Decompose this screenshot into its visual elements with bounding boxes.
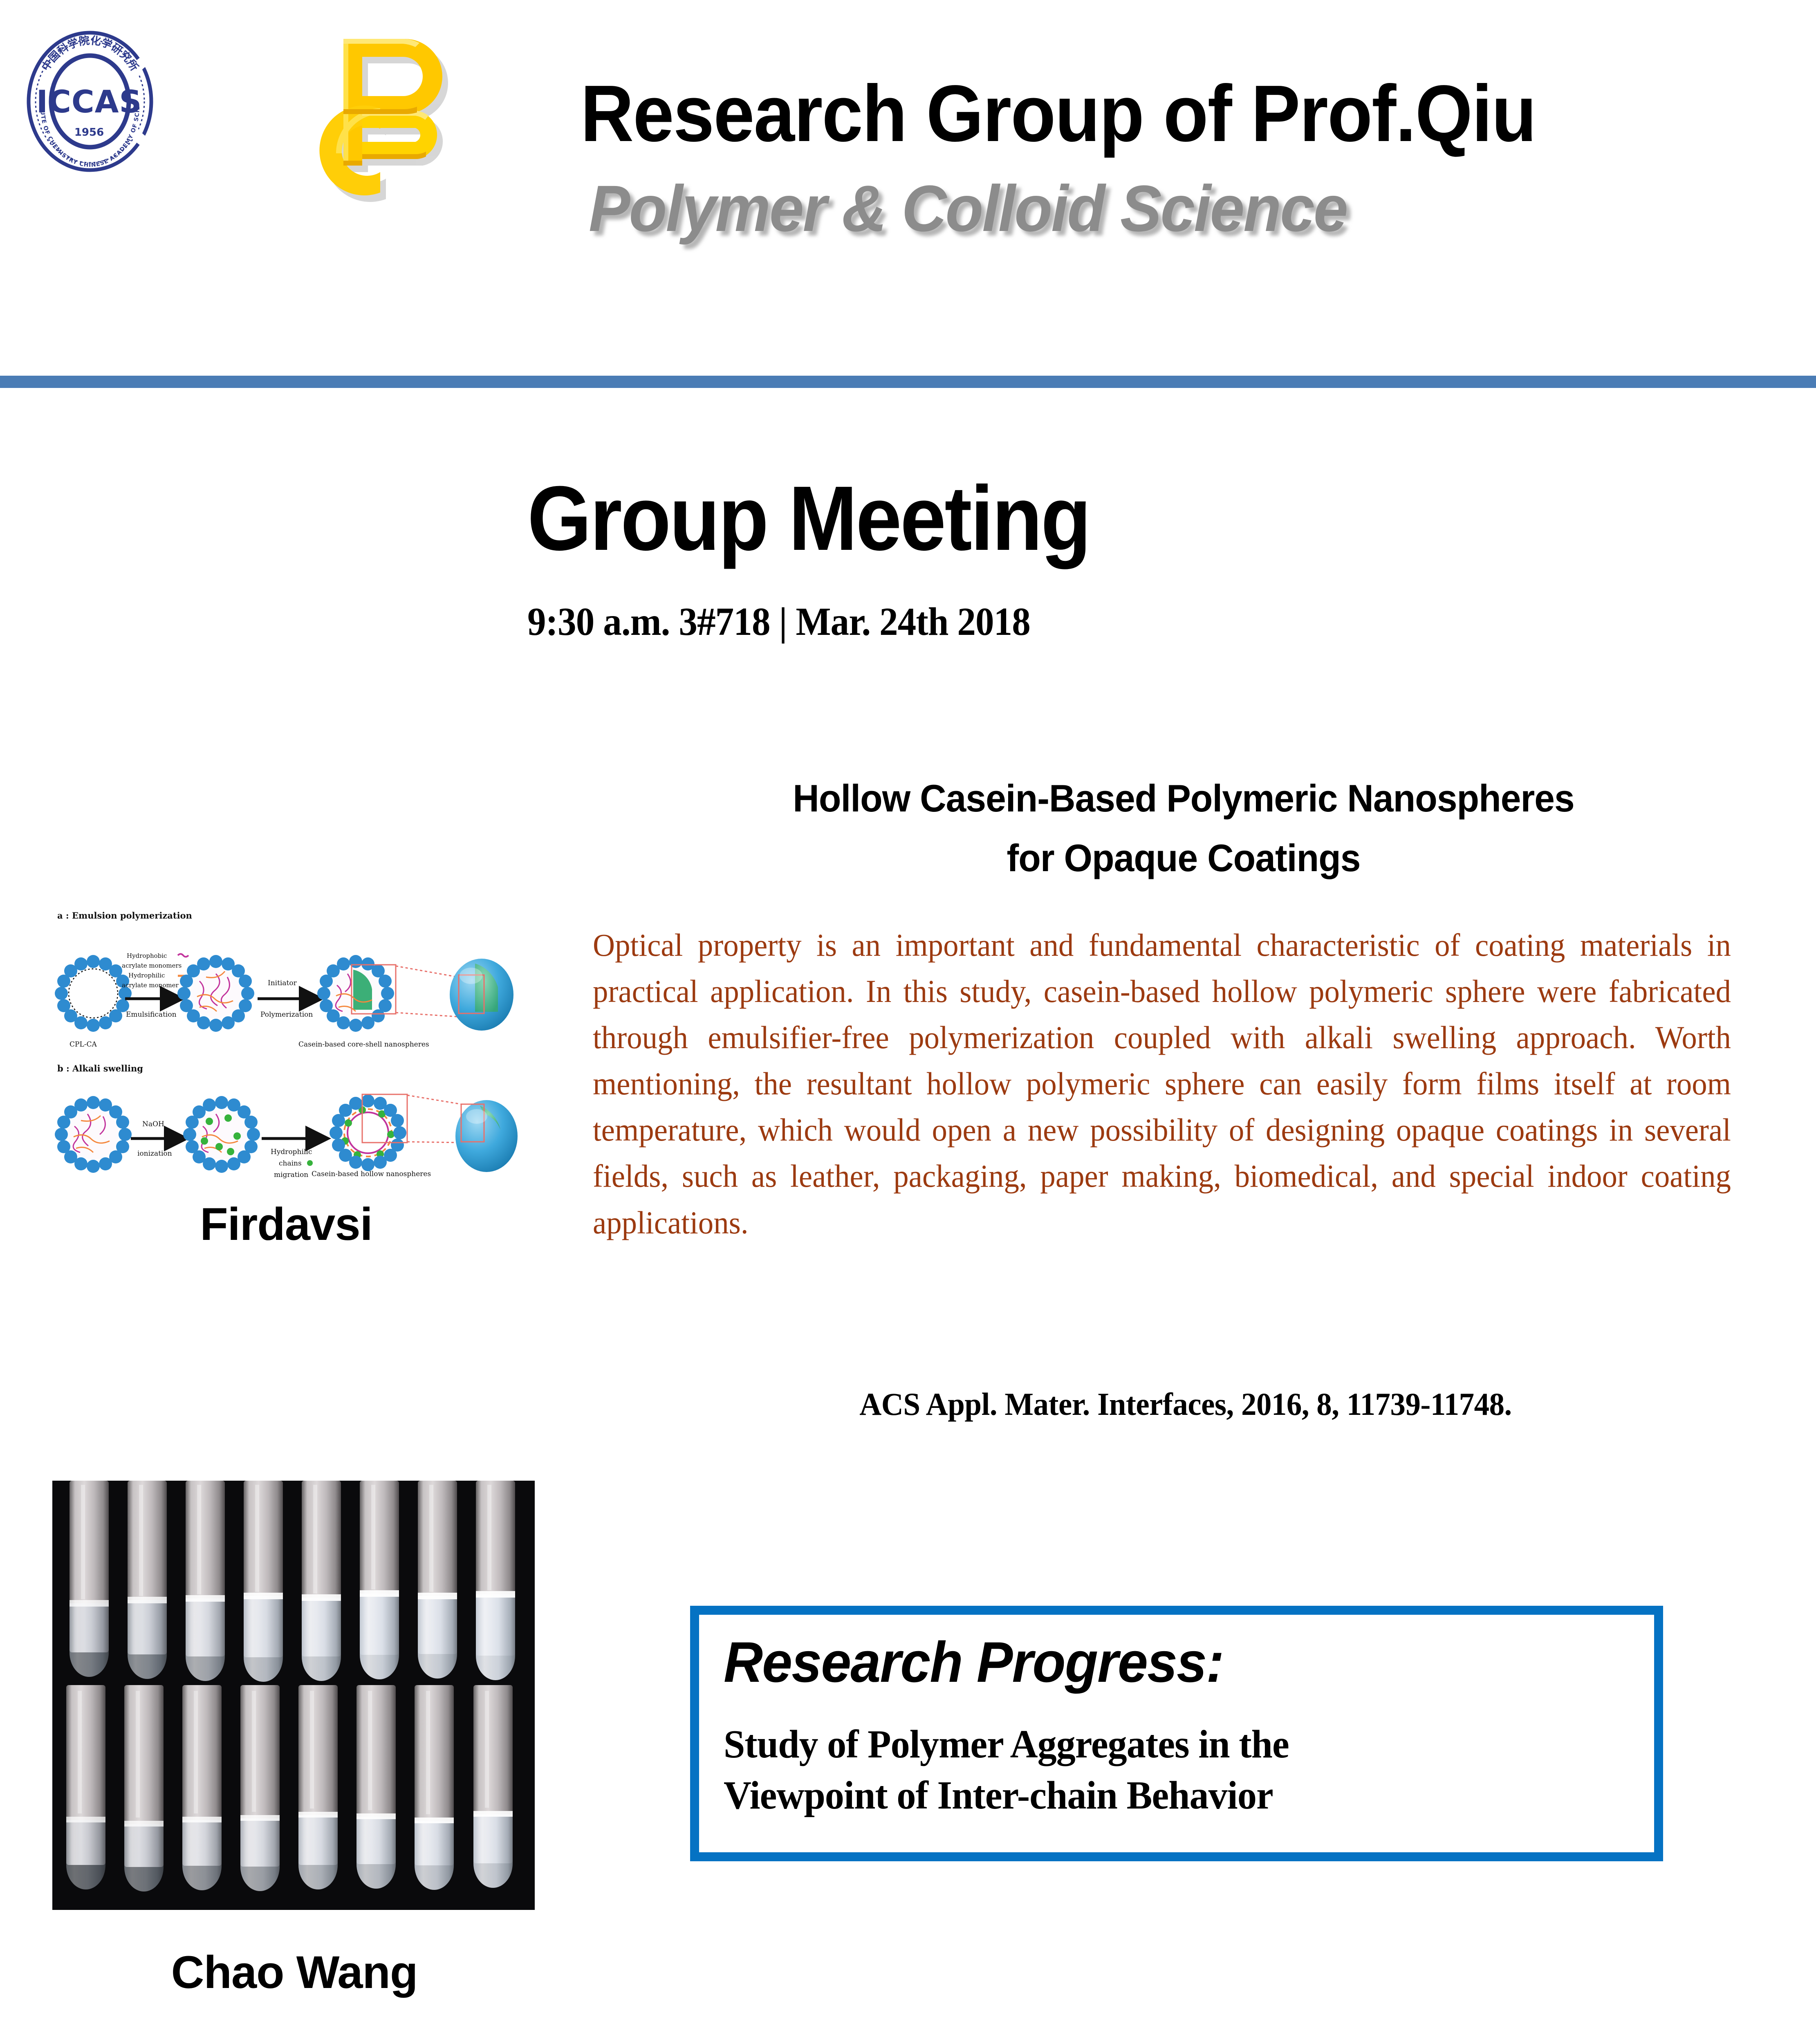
page-title: Group Meeting	[527, 466, 1337, 571]
header-divider-rule	[0, 376, 1816, 388]
talk-citation: ACS Appl. Mater. Interfaces, 2016, 8, 11…	[617, 1386, 1755, 1423]
svg-text:CPL-CA: CPL-CA	[70, 1040, 97, 1049]
talk-title-line-2: for Opaque Coatings	[614, 828, 1753, 888]
header-subtitle: Polymer & Colloid Science	[589, 176, 1715, 241]
research-progress-heading: Research Progress:	[724, 1629, 1586, 1695]
svg-text:Casein-based hollow nanosphere: Casein-based hollow nanospheres	[312, 1170, 431, 1178]
pcs-monogram-logo	[282, 31, 466, 215]
footer-skyline-graphic	[0, 2026, 1816, 2044]
speaker-name-chao-wang: Chao Wang	[74, 1946, 515, 1999]
svg-text:acrylate monomers: acrylate monomers	[122, 962, 182, 969]
iccas-seal-logo: 中国科学院化学研究所 INSTITUTE OF CHEMISTRY CHINES…	[22, 29, 157, 174]
svg-text:Hydrophobic: Hydrophobic	[127, 952, 167, 959]
svg-text:Initiator: Initiator	[268, 979, 297, 987]
talk-title-line-1: Hollow Casein-Based Polymeric Nanosphere…	[614, 769, 1753, 828]
header-title: Research Group of Prof.Qiu	[581, 74, 1671, 154]
talk-abstract: Optical property is an important and fun…	[593, 922, 1731, 1246]
svg-text:Emulsification: Emulsification	[126, 1011, 177, 1019]
svg-text:a : Emulsion polymerization: a : Emulsion polymerization	[57, 910, 192, 921]
speaker-name-firdavsi: Firdavsi	[102, 1198, 470, 1251]
test-tube-photo	[52, 1481, 535, 1910]
talk-title: Hollow Casein-Based Polymeric Nanosphere…	[614, 769, 1753, 888]
svg-text:ICCAS: ICCAS	[36, 83, 142, 120]
svg-text:1956: 1956	[74, 126, 104, 139]
research-progress-subtitle-line-2: Viewpoint of Inter-chain Behavior	[724, 1770, 1599, 1821]
svg-text:ionization: ionization	[137, 1150, 172, 1158]
svg-text:b : Alkali swelling: b : Alkali swelling	[57, 1063, 143, 1074]
svg-text:acrylate monomer: acrylate monomer	[122, 982, 179, 989]
page-header: 中国科学院化学研究所 INSTITUTE OF CHEMISTRY CHINES…	[0, 0, 1816, 380]
research-progress-subtitle: Study of Polymer Aggregates in the Viewp…	[724, 1719, 1599, 1822]
svg-text:chains: chains	[279, 1159, 302, 1168]
svg-text:Casein-based core-shell nanosp: Casein-based core-shell nanospheres	[298, 1040, 429, 1049]
meeting-time-place: 9:30 a.m. 3#718 | Mar. 24th 2018	[527, 599, 1440, 645]
svg-text:NaOH: NaOH	[142, 1120, 164, 1128]
svg-text:Hydrophilic: Hydrophilic	[271, 1148, 312, 1156]
svg-text:Polymerization: Polymerization	[260, 1011, 313, 1019]
svg-text:migration: migration	[274, 1171, 308, 1179]
research-progress-box: Research Progress: Study of Polymer Aggr…	[690, 1606, 1663, 1861]
research-progress-subtitle-line-1: Study of Polymer Aggregates in the	[724, 1719, 1599, 1770]
reaction-scheme-figure: a : Emulsion polymerization CPL-CA	[45, 905, 527, 1183]
svg-text:Hydrophilic: Hydrophilic	[128, 972, 165, 979]
